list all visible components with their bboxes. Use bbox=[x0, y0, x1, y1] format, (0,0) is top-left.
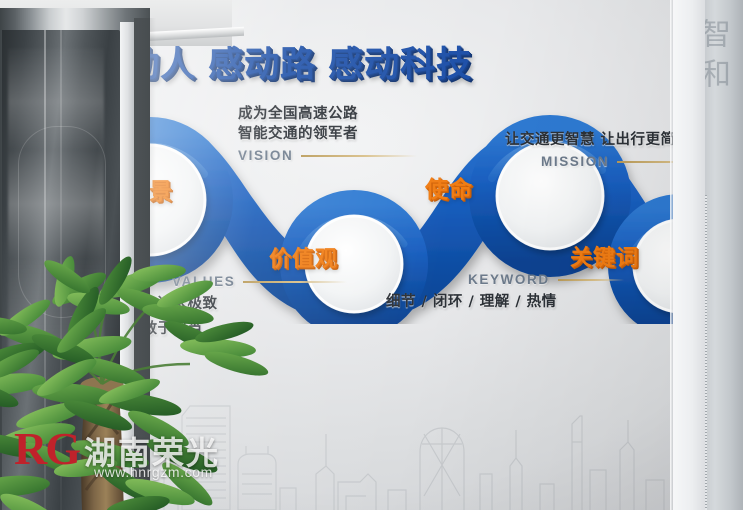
vision-underline bbox=[301, 155, 417, 157]
ring-label-keyword: 关键词 bbox=[570, 240, 639, 272]
headline-segment-3: 感动科技 bbox=[328, 45, 472, 85]
vision-en-label: VISION bbox=[238, 148, 293, 163]
corner-wall-face bbox=[673, 0, 705, 510]
mission-en-label: MISSION bbox=[541, 154, 609, 169]
vision-line-2: 智能交通的领军者 bbox=[238, 124, 417, 144]
lobby-culture-wall-photo: 感动人感动路感动科技 愿景 价值观 使命 关键词 成为全国高速公路 智能交通的领… bbox=[0, 0, 743, 510]
keyword-en-label: KEYWORD bbox=[468, 272, 550, 287]
watermark-url: www.hnrgzm.com bbox=[94, 464, 213, 480]
right-wall-corner: 智和 bbox=[673, 0, 743, 510]
watermark: RG 湖南荣光 www.hnrgzm.com bbox=[14, 424, 246, 486]
vision-text-block: 成为全国高速公路 智能交通的领军者 VISION bbox=[238, 104, 417, 163]
corner-edge-highlight bbox=[670, 0, 673, 510]
vision-line-1: 成为全国高速公路 bbox=[238, 104, 417, 124]
headline-segment-2: 感动路 bbox=[208, 45, 316, 85]
keyword-line-1: 细节 / 闭环 / 理解 / 热情 bbox=[386, 292, 624, 312]
keyword-text-block: KEYWORD 细节 / 闭环 / 理解 / 热情 bbox=[386, 272, 624, 312]
ring-label-mission: 使命 bbox=[425, 170, 473, 204]
glass-partition-text: 智和 bbox=[705, 18, 741, 98]
watermark-logo: RG bbox=[14, 426, 79, 472]
keyword-underline bbox=[558, 279, 624, 281]
